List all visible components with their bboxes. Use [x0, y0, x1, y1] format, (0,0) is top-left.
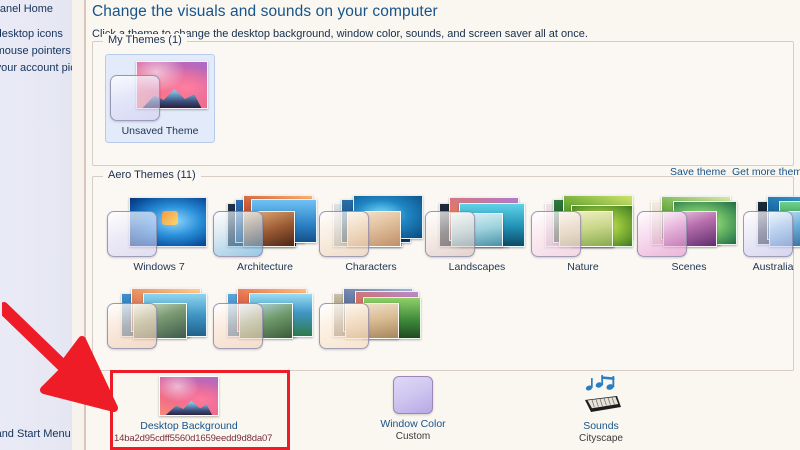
sounds-option[interactable]: Sounds Cityscape: [526, 374, 676, 444]
window-color-option[interactable]: Window Color Custom: [338, 376, 488, 442]
sounds-title: Sounds: [526, 420, 676, 432]
theme-tile-row2-2[interactable]: [213, 285, 317, 353]
glass-window-overlay: [743, 211, 793, 257]
theme-label: Windows 7: [107, 261, 211, 273]
theme-tile-row2-1[interactable]: [107, 285, 211, 353]
theme-label: Landscapes: [425, 261, 529, 273]
theme-tile-unsaved-theme[interactable]: Unsaved Theme: [105, 54, 215, 143]
aero-themes-group: Aero Themes (11) Windows 7: [92, 176, 794, 371]
theme-label: Characters: [319, 261, 423, 273]
glass-window-overlay: [107, 211, 157, 257]
theme-thumbnail: [319, 285, 423, 351]
glass-window-overlay: [425, 211, 475, 257]
sounds-speaker-notes-icon: [577, 374, 625, 416]
sidebar-gutter: [72, 0, 84, 450]
theme-thumbnail: [110, 59, 210, 123]
theme-thumbnail: [425, 193, 529, 259]
theme-label: Australia: [743, 261, 800, 273]
window-color-title: Window Color: [338, 418, 488, 430]
personalization-window: Control Panel Home Change desktop icons …: [0, 0, 800, 450]
window-color-value: Custom: [338, 431, 488, 442]
sidebar-item-change-account-picture[interactable]: Change your account picture: [0, 62, 72, 75]
main-content: Change the visuals and sounds on your co…: [86, 0, 800, 450]
theme-thumbnail: [637, 193, 741, 259]
theme-thumbnail: [107, 193, 211, 259]
theme-tile-nature[interactable]: Nature: [531, 193, 635, 273]
sidebar-item-control-panel-home[interactable]: Control Panel Home: [0, 3, 72, 16]
my-themes-group: My Themes (1) Unsaved Theme: [92, 41, 794, 166]
aero-themes-legend: Aero Themes (11): [103, 169, 201, 181]
theme-thumbnail: [743, 193, 800, 259]
theme-label: Architecture: [213, 261, 317, 273]
sidebar-item-change-mouse-pointers[interactable]: Change mouse pointers: [0, 45, 72, 58]
theme-thumbnail: [107, 285, 211, 351]
theme-tile-landscapes[interactable]: Landscapes: [425, 193, 529, 273]
theme-thumbnail: [213, 193, 317, 259]
color-swatch-icon: [393, 376, 433, 414]
theme-tile-australia[interactable]: Australia: [743, 193, 800, 273]
desktop-background-option[interactable]: Desktop Background 14ba2d95cdff5560d1659…: [114, 376, 264, 444]
glass-window-overlay: [531, 211, 581, 257]
theme-tile-characters[interactable]: Characters: [319, 193, 423, 273]
glass-window-overlay: [213, 211, 263, 257]
theme-thumbnail: [531, 193, 635, 259]
glass-window-overlay: [213, 303, 263, 349]
theme-thumbnail: [319, 193, 423, 259]
theme-tile-windows-7[interactable]: Windows 7: [107, 193, 211, 273]
theme-label: Nature: [531, 261, 635, 273]
theme-tile-scenes[interactable]: Scenes: [637, 193, 741, 273]
sidebar-item-taskbar-and-start-menu[interactable]: Taskbar and Start Menu: [0, 428, 72, 441]
page-title: Change the visuals and sounds on your co…: [92, 3, 438, 21]
glass-window-overlay: [107, 303, 157, 349]
wallpaper-thumbnail-icon: [159, 376, 219, 416]
theme-tile-architecture[interactable]: Architecture: [213, 193, 317, 273]
glass-window-overlay: [319, 211, 369, 257]
glass-window-overlay: [637, 211, 687, 257]
sidebar-item-change-desktop-icons[interactable]: Change desktop icons: [0, 28, 72, 41]
theme-label: Scenes: [637, 261, 741, 273]
glass-window-overlay: [319, 303, 369, 349]
theme-thumbnail: [213, 285, 317, 351]
theme-label: Unsaved Theme: [106, 125, 214, 137]
sounds-value: Cityscape: [526, 433, 676, 444]
desktop-background-value: 14ba2d95cdff5560d1659eedd9d8da07: [114, 433, 264, 444]
bottom-options-strip: Desktop Background 14ba2d95cdff5560d1659…: [86, 372, 800, 450]
desktop-background-title: Desktop Background: [114, 420, 264, 432]
sidebar: Control Panel Home Change desktop icons …: [0, 0, 72, 450]
glass-window-overlay: [110, 75, 160, 121]
my-themes-legend: My Themes (1): [103, 34, 187, 46]
theme-tile-row2-3[interactable]: [319, 285, 423, 353]
